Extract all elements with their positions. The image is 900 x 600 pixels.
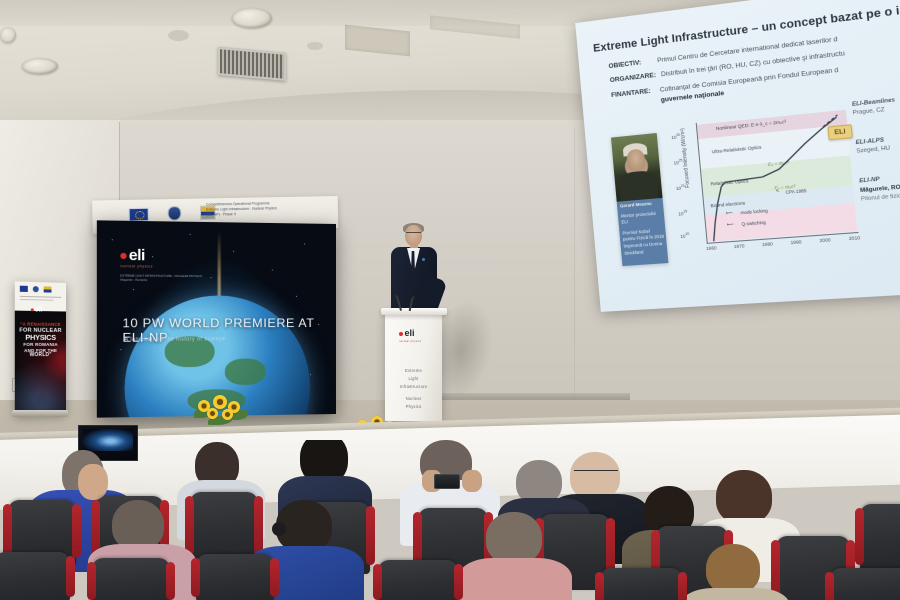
chart-y-tick: 1030 — [671, 133, 681, 141]
rollup-slogan: "A RENAISSANCE FOR NUCLEAR PHYSICS FOR R… — [18, 322, 63, 358]
government-seal-logo — [33, 286, 39, 292]
podium-text-line-3: Infrastructure — [385, 383, 442, 391]
ceiling-downlight-icon — [0, 27, 16, 43]
eli-logo-text: eli — [129, 248, 145, 264]
podium-text-line-1: Extreme — [385, 367, 442, 375]
eli-site-alps: ELI-ALPS Szeged, HU — [855, 129, 900, 156]
backdrop-header-text: Competitiveness Operational Programme Ex… — [206, 200, 328, 218]
eli-logo-subtitle: nuclear physics — [399, 340, 421, 343]
eli-wordmark: eli — [399, 329, 421, 338]
auditorium-seat — [860, 504, 900, 574]
mourou-photo-card: Gerard Mourou Mentor proiectului ELI Pre… — [611, 133, 668, 266]
eli-site-beamlines: ELI-Beamlines Prague, CZ — [852, 90, 900, 118]
chart-eli-badge: ELI — [827, 124, 853, 140]
smartphone-device — [434, 474, 460, 489]
eli-logo-fullname: EXTREME LIGHT INFRASTRUCTURE - NUCLEAR P… — [120, 273, 202, 282]
backdrop-subline: A landmark in the history of science — [125, 336, 321, 343]
backdrop-eli-logo: eli nuclear physics EXTREME LIGHT INFRAS… — [120, 248, 202, 283]
headset-icon — [272, 522, 286, 536]
rollup-banner-base — [12, 410, 68, 417]
podium-text-line-2: Light — [385, 375, 442, 383]
rollup-header-line — [20, 296, 61, 298]
government-seal-logo — [168, 206, 182, 221]
mourou-name: Gerard Mourou — [620, 200, 661, 210]
portrait-body — [618, 170, 658, 202]
portrait-face — [626, 149, 646, 173]
eli-logo-subtitle: nuclear physics — [120, 264, 202, 269]
auditorium-seat — [92, 558, 170, 600]
ceiling-downlight-icon — [232, 8, 272, 28]
podium-top-surface — [381, 308, 447, 315]
romania-gov-logo — [44, 286, 52, 292]
mourou-portrait — [611, 133, 663, 202]
eu-flag-logo — [20, 286, 28, 292]
eli-site-np: ELI-NP Măgurele, RO Pilonul de fizică nu… — [859, 169, 900, 204]
microphone-head-icon — [394, 294, 397, 297]
auditorium-seat — [378, 560, 458, 600]
audience-seating — [0, 440, 900, 600]
wall-seam — [574, 128, 575, 424]
chart-x-tick: 2000 — [819, 237, 831, 243]
eli-wordmark: eli — [120, 248, 202, 264]
rollup-eli-logo: eli — [31, 306, 43, 313]
mourou-award: Premiul Nobel pentru Fizică în 2018 împr… — [622, 227, 665, 257]
auditorium-seat — [196, 554, 274, 600]
slide-row-label: ORGANIZARE: — [610, 72, 657, 86]
chart-x-tick: 1960 — [706, 245, 717, 251]
ceiling-sensor-icon — [168, 30, 189, 41]
chart-y-tick: 1010 — [680, 232, 690, 239]
ceiling-air-vent — [218, 47, 286, 81]
presentation-slide: Extreme Light Infrastructure – un concep… — [575, 0, 900, 312]
speaker-glasses-icon — [406, 232, 421, 236]
microphone-head-icon — [412, 296, 415, 299]
backdrop-logo-row — [129, 205, 216, 221]
eli-logo-dot-icon — [399, 332, 403, 336]
chart-x-tick: 2010 — [849, 235, 861, 241]
eli-logo-dot-icon — [31, 308, 34, 311]
rollup-line-3: PHYSICS — [18, 334, 63, 343]
podium-lectern: eli nuclear physics Extreme Light Infras… — [385, 313, 442, 421]
rollup-header-line — [20, 299, 54, 301]
ceiling-downlight-icon — [22, 58, 58, 74]
chart-annotation-arrow-icon: ↖ — [776, 188, 781, 195]
slide-row-label: OBIECTIV: — [608, 58, 652, 72]
podium-eli-logo: eli nuclear physics — [399, 329, 421, 343]
podium-text-line-5: Physics — [385, 403, 442, 411]
conference-room-photo: Extreme Light Infrastructure – un concep… — [0, 0, 900, 600]
slide-row-label: FINANTARE: — [611, 87, 655, 101]
auditorium-seat — [0, 552, 70, 600]
ceiling-speaker-icon — [307, 42, 323, 50]
eli-logo-dot-icon — [120, 252, 126, 258]
sunflower-arrangement — [192, 392, 252, 426]
mourou-role: Mentor proiectului ELI — [621, 210, 663, 227]
chart-annotation-arrow-icon: ⟵ — [727, 221, 734, 228]
rollup-logo-row — [20, 286, 52, 293]
chart-y-tick: 1021 — [676, 184, 686, 191]
chart-x-tick: 1990 — [790, 239, 802, 245]
projection-screen: Extreme Light Infrastructure – un concep… — [575, 0, 900, 312]
mourou-caption: Gerard Mourou Mentor proiectului ELI Pre… — [620, 200, 666, 257]
focused-intensity-chart: Focused Intensity (W/cm²) 1030 1025 1021… — [668, 108, 859, 269]
rollup-line-4: FOR ROMANIA — [18, 342, 63, 347]
auditorium-seat — [830, 568, 900, 600]
stage-backdrop-banner: eli nuclear physics EXTREME LIGHT INFRAS… — [97, 220, 336, 417]
chart-y-tick: 1025 — [673, 158, 683, 165]
chart-annotation-arrow-icon: ⟵ — [726, 210, 733, 217]
podium-institution-text: Extreme Light Infrastructure Nuclear Phy… — [385, 367, 442, 411]
eli-logo-text: eli — [405, 329, 415, 338]
rollup-line-6: WORLD" — [18, 353, 63, 359]
eli-sites-list: ELI-Beamlines Prague, CZ ELI-ALPS Szeged… — [852, 90, 900, 225]
chart-y-tick: 1015 — [678, 209, 688, 216]
auditorium-seat — [600, 568, 682, 600]
speaker-lapel-pin — [422, 258, 425, 261]
eli-logo-text: eli — [35, 306, 43, 313]
chart-x-tick: 1970 — [734, 243, 745, 249]
chart-x-tick: 1980 — [762, 241, 773, 247]
podium-text-line-4: Nuclear — [385, 395, 442, 403]
eu-flag-logo — [129, 207, 149, 221]
rollup-banner: eli "A RENAISSANCE FOR NUCLEAR PHYSICS F… — [15, 281, 66, 414]
